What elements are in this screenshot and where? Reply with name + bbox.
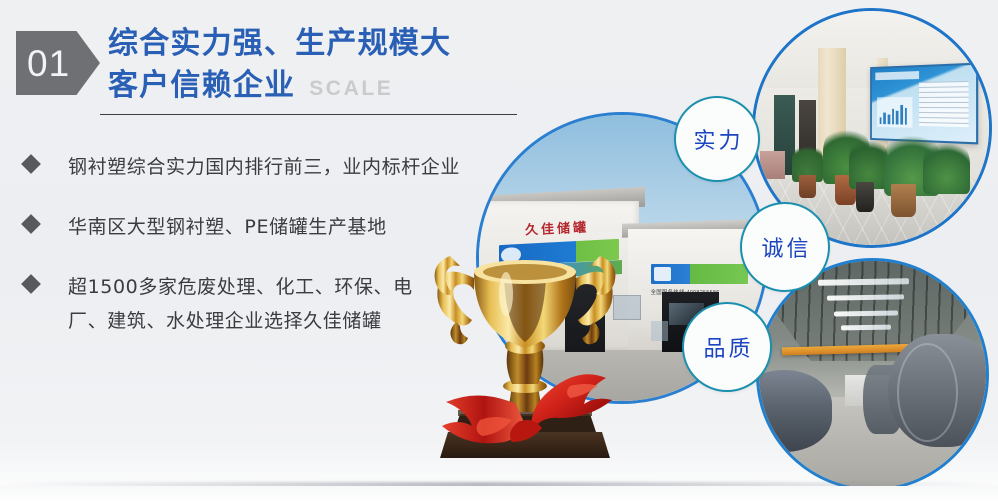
section-number-text: 01 [16,45,70,82]
reception-counter [760,151,786,179]
diamond-bullet-icon [21,214,41,234]
skylight-panel [834,310,898,316]
potted-plant [849,133,889,189]
headline-line-2-wrap: 客户信赖企业SCALE [108,66,538,109]
badge-shili: 实力 [674,96,760,182]
bullet-line-1: 超1500多家危废处理、化工、环保、电 [68,276,413,298]
section-number-badge: 01 [16,31,100,95]
plant-pot [856,182,875,212]
factory-window [651,321,668,341]
plant-pot [891,184,917,217]
badge-label: 实力 [690,123,743,155]
photo-warehouse-interior [756,258,989,491]
plant-pot [799,175,815,198]
diamond-bullet-icon [21,154,41,174]
bullet-line-1: 钢衬塑综合实力国内排行前三，业内标杆企业 [68,156,460,178]
headline-line-1: 综合实力强、生产规模大 [108,24,538,64]
bullet-text: 华南区大型钢衬塑、PE储罐生产基地 [68,210,387,244]
headline-line-2: 客户信赖企业 [108,68,295,103]
gold-trophy [420,236,630,464]
badge-label: 品质 [700,331,753,363]
diamond-bullet-icon [21,274,41,294]
skylight-panel [841,324,891,329]
storage-tank [888,334,989,448]
factory-sign-right [651,264,748,284]
bullet-line-1: 华南区大型钢衬塑、PE储罐生产基地 [68,216,387,238]
board-text-block [919,80,969,127]
company-strength-banner: 01 综合实力强、生产规模大 客户信赖企业SCALE 钢衬塑综合实力国内排行前三… [0,0,998,503]
warehouse-interior-image [759,261,986,488]
badge-label: 诚信 [758,231,811,263]
list-item: 钢衬塑综合实力国内排行前三，业内标杆企业 [22,150,492,184]
badge-pinzhi: 品质 [682,302,772,392]
headline-english: SCALE [309,77,393,100]
storage-tank [756,370,832,452]
header-divider [100,114,517,115]
header-text-block: 综合实力强、生产规模大 客户信赖企业SCALE [108,24,538,109]
badge-chengxin: 诚信 [740,202,830,292]
board-title-strip [876,71,919,79]
potted-plant [923,137,970,193]
bullet-line-2: 厂、建筑、水处理企业选择久佳储罐 [68,304,413,338]
bottom-fade [0,486,998,503]
bullet-text: 钢衬塑综合实力国内排行前三，业内标杆企业 [68,150,460,184]
board-bar-chart [877,97,912,127]
bullet-text: 超1500多家危废处理、化工、环保、电 厂、建筑、水处理企业选择久佳储罐 [68,270,413,338]
